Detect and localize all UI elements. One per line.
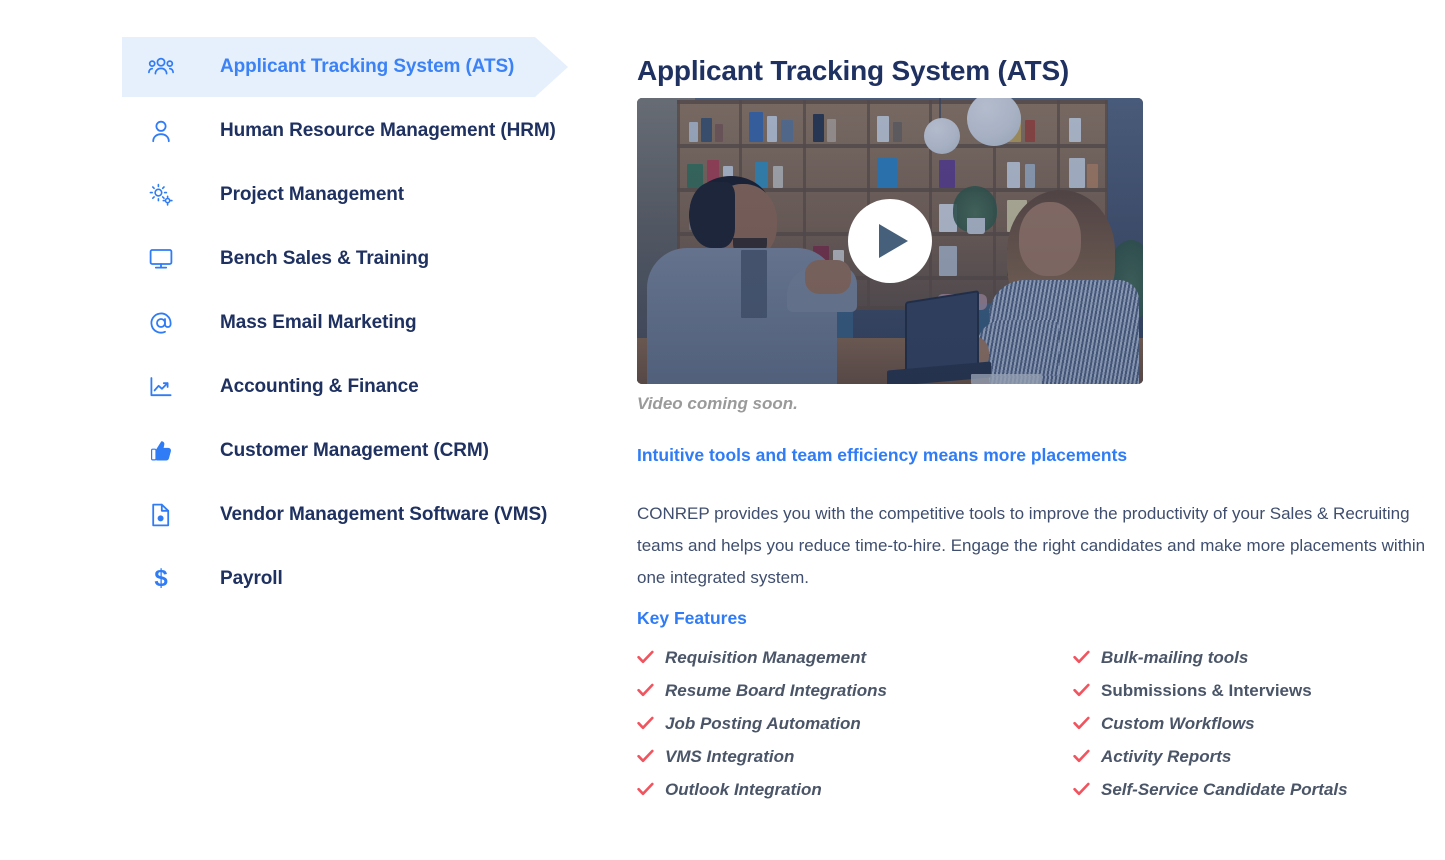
feature-item: Job Posting Automation <box>637 714 1073 747</box>
feature-label: Bulk-mailing tools <box>1101 648 1248 668</box>
features-column-right: Bulk-mailing tools Submissions & Intervi… <box>1073 648 1445 813</box>
feature-label: Activity Reports <box>1101 747 1231 767</box>
sidebar-item-vendor-management-software[interactable]: Vendor Management Software (VMS) <box>122 485 572 545</box>
feature-item: Bulk-mailing tools <box>1073 648 1445 681</box>
feature-label: Submissions & Interviews <box>1101 681 1312 701</box>
sidebar-item-mass-email-marketing[interactable]: Mass Email Marketing <box>122 293 572 353</box>
feature-item: Resume Board Integrations <box>637 681 1073 714</box>
feature-item: Outlook Integration <box>637 780 1073 813</box>
sidebar-item-label: Project Management <box>220 184 404 206</box>
feature-item: Submissions & Interviews <box>1073 681 1445 714</box>
key-features-list: Requisition Management Resume Board Inte… <box>637 648 1445 813</box>
check-icon <box>637 683 665 697</box>
sidebar-item-label: Applicant Tracking System (ATS) <box>220 56 514 78</box>
sidebar-item-accounting-finance[interactable]: Accounting & Finance <box>122 357 572 417</box>
sidebar-item-project-management[interactable]: Project Management <box>122 165 572 225</box>
check-icon <box>637 782 665 796</box>
feature-label: Requisition Management <box>665 648 866 668</box>
feature-item: Activity Reports <box>1073 747 1445 780</box>
feature-item: VMS Integration <box>637 747 1073 780</box>
sidebar-item-human-resource-management[interactable]: Human Resource Management (HRM) <box>122 101 572 161</box>
module-sidebar: Applicant Tracking System (ATS) Human Re… <box>122 37 572 613</box>
sidebar-item-customer-management[interactable]: Customer Management (CRM) <box>122 421 572 481</box>
sidebar-item-label: Vendor Management Software (VMS) <box>220 504 547 526</box>
sidebar-item-label: Customer Management (CRM) <box>220 440 489 462</box>
check-icon <box>1073 782 1101 796</box>
check-icon <box>637 749 665 763</box>
play-triangle-icon[interactable] <box>848 199 932 283</box>
check-icon <box>1073 683 1101 697</box>
gears-icon <box>144 183 178 207</box>
dollar-sign-icon: $ <box>144 567 178 591</box>
sidebar-item-label: Payroll <box>220 568 283 590</box>
feature-label: VMS Integration <box>665 747 794 767</box>
features-column-left: Requisition Management Resume Board Inte… <box>637 648 1073 813</box>
module-detail-panel: Applicant Tracking System (ATS) <box>637 0 1445 860</box>
sidebar-item-applicant-tracking-system[interactable]: Applicant Tracking System (ATS) <box>122 37 572 97</box>
section-subheading: Intuitive tools and team efficiency mean… <box>637 445 1127 466</box>
feature-label: Job Posting Automation <box>665 714 861 734</box>
person-icon <box>144 120 178 143</box>
check-icon <box>1073 749 1101 763</box>
video-player-thumbnail[interactable] <box>637 98 1143 384</box>
at-sign-icon <box>144 311 178 335</box>
check-icon <box>637 650 665 664</box>
section-paragraph: CONREP provides you with the competitive… <box>637 498 1437 594</box>
dollar-glyph: $ <box>154 567 167 591</box>
check-icon <box>637 716 665 730</box>
monitor-icon <box>144 248 178 270</box>
feature-item: Requisition Management <box>637 648 1073 681</box>
sidebar-item-label: Accounting & Finance <box>220 376 419 398</box>
key-features-heading: Key Features <box>637 608 747 629</box>
feature-item: Self-Service Candidate Portals <box>1073 780 1445 813</box>
feature-label: Custom Workflows <box>1101 714 1255 734</box>
check-icon <box>1073 716 1101 730</box>
video-caption: Video coming soon. <box>637 394 798 414</box>
feature-label: Self-Service Candidate Portals <box>1101 780 1348 800</box>
sidebar-item-label: Bench Sales & Training <box>220 248 429 270</box>
nav-background <box>122 549 568 609</box>
thumbs-up-icon <box>144 440 178 463</box>
sidebar-item-label: Human Resource Management (HRM) <box>220 120 556 142</box>
feature-item: Custom Workflows <box>1073 714 1445 747</box>
feature-label: Resume Board Integrations <box>665 681 887 701</box>
sidebar-item-bench-sales-training[interactable]: Bench Sales & Training <box>122 229 572 289</box>
line-chart-icon <box>144 376 178 398</box>
check-icon <box>1073 650 1101 664</box>
page-title: Applicant Tracking System (ATS) <box>637 55 1069 87</box>
sidebar-item-label: Mass Email Marketing <box>220 312 417 334</box>
feature-label: Outlook Integration <box>665 780 822 800</box>
sidebar-item-payroll[interactable]: $ Payroll <box>122 549 572 609</box>
features-page: Applicant Tracking System (ATS) Human Re… <box>0 0 1445 860</box>
document-icon <box>144 503 178 527</box>
people-group-icon <box>144 56 178 78</box>
